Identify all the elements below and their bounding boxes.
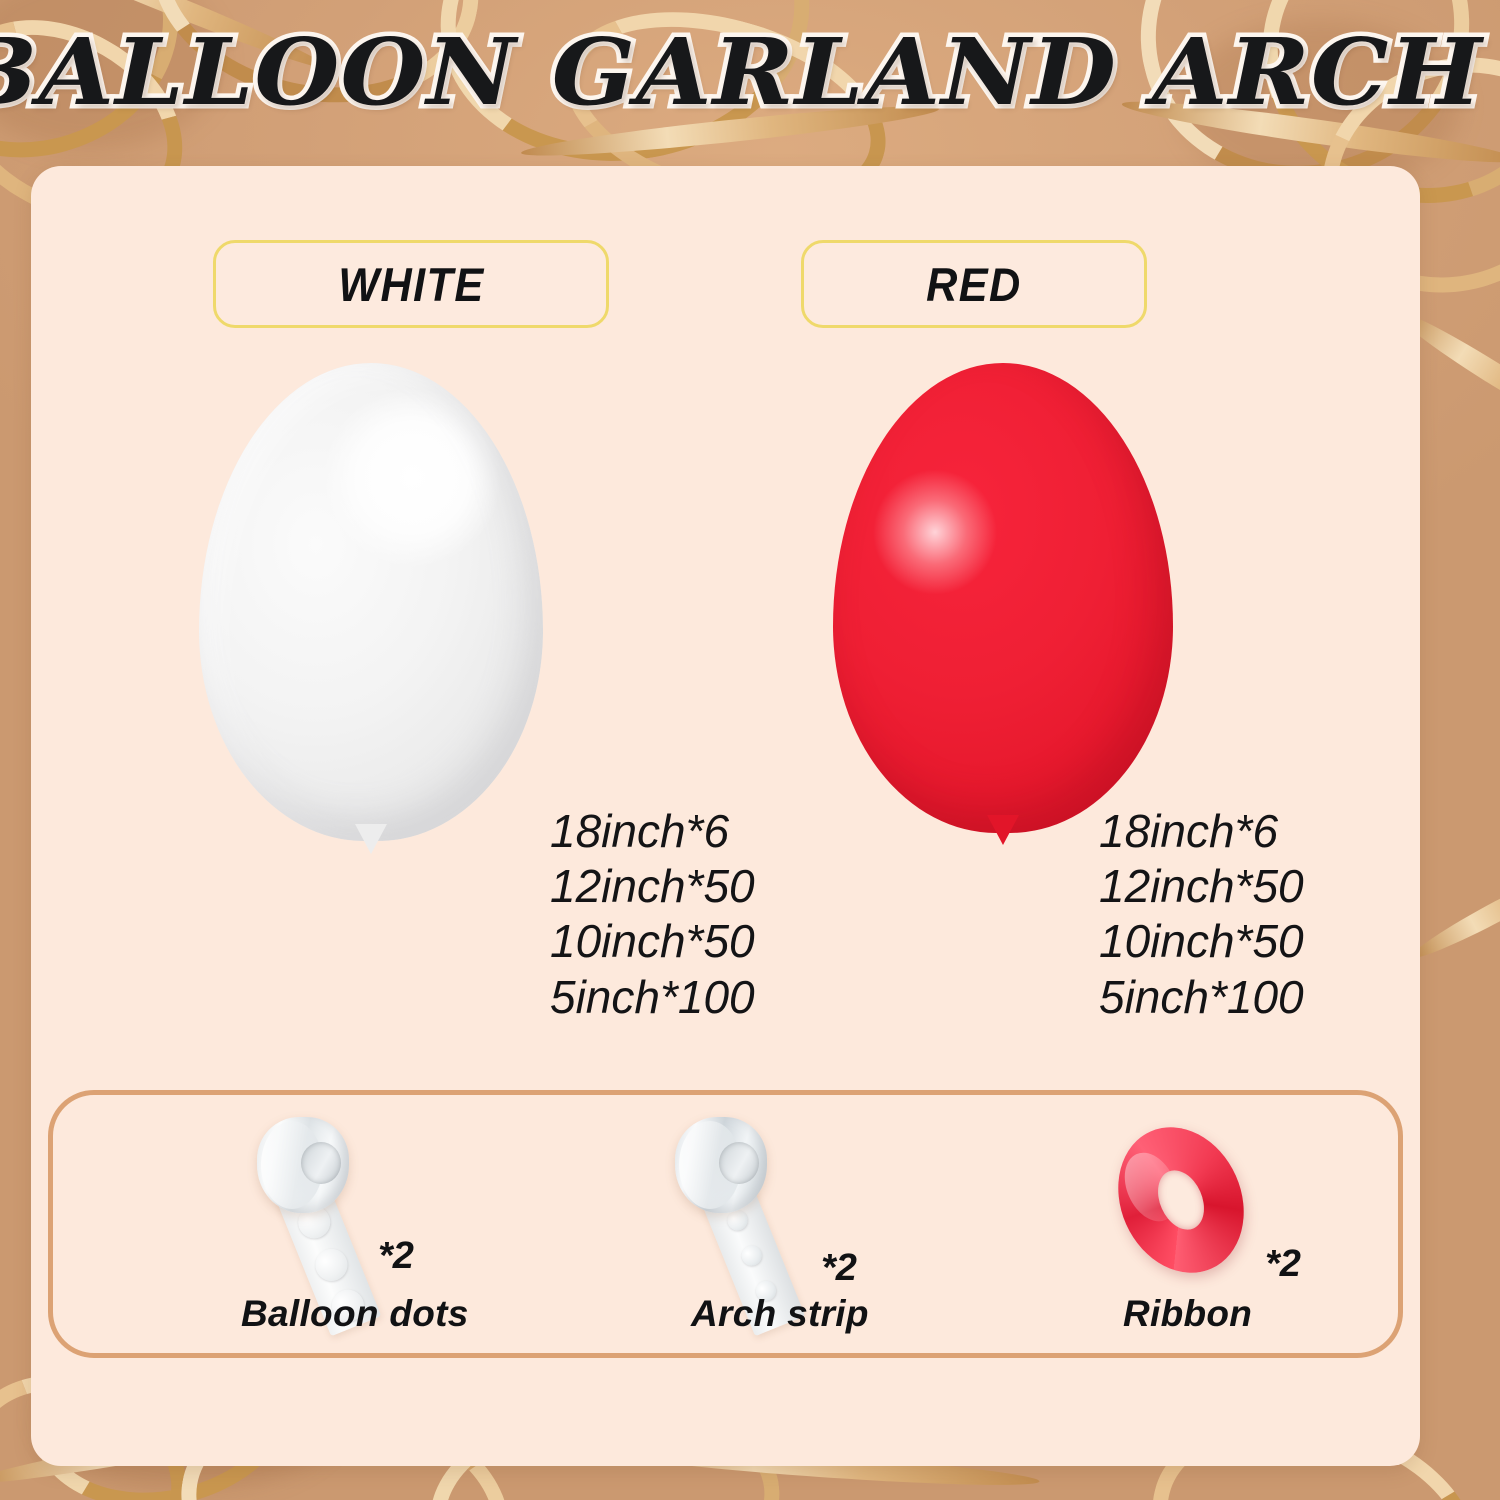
strip-hole-center bbox=[719, 1142, 759, 1184]
size-line: 5inch*100 bbox=[1099, 970, 1304, 1025]
glue-dot bbox=[311, 1244, 353, 1286]
white-balloon-image bbox=[199, 363, 543, 841]
strip-hole bbox=[739, 1243, 765, 1269]
red-balloon-image bbox=[833, 363, 1173, 833]
white-size-list: 18inch*6 12inch*50 10inch*50 5inch*100 bbox=[550, 804, 755, 1025]
accessory-arch-strip: *2 Arch strip bbox=[503, 1095, 953, 1363]
product-card: WHITE 18inch*6 12inch*50 10inch*50 5inch… bbox=[31, 166, 1420, 1466]
size-line: 10inch*50 bbox=[1099, 914, 1304, 969]
ribbon-spool-icon bbox=[1096, 1107, 1267, 1293]
size-line: 18inch*6 bbox=[1099, 804, 1304, 859]
strip-core bbox=[675, 1117, 767, 1213]
balloon-body bbox=[199, 363, 543, 841]
accessory-label: Ribbon bbox=[1123, 1293, 1252, 1335]
accessory-quantity: *2 bbox=[378, 1235, 414, 1278]
accessory-balloon-dots: *2 Balloon dots bbox=[53, 1095, 503, 1363]
page-title: BALLOON GARLAND ARCH KIT bbox=[0, 26, 1500, 118]
color-badge-label: RED bbox=[926, 257, 1021, 312]
color-badge-white[interactable]: WHITE bbox=[213, 240, 609, 328]
accessory-quantity: *2 bbox=[1265, 1243, 1301, 1286]
size-line: 5inch*100 bbox=[550, 970, 755, 1025]
tape-core bbox=[257, 1117, 349, 1213]
balloon-knot bbox=[987, 815, 1019, 845]
tape-roll-icon bbox=[239, 1117, 379, 1307]
accessories-box: *2 Balloon dots *2 Arch str bbox=[48, 1090, 1403, 1358]
accessory-label: Balloon dots bbox=[241, 1293, 469, 1335]
size-line: 12inch*50 bbox=[1099, 859, 1304, 914]
balloon-body bbox=[833, 363, 1173, 833]
size-line: 10inch*50 bbox=[550, 914, 755, 969]
accessory-quantity: *2 bbox=[821, 1247, 857, 1290]
accessory-label: Arch strip bbox=[691, 1293, 869, 1335]
product-infographic: BALLOON GARLAND ARCH KIT WHITE 18inch*6 … bbox=[0, 0, 1500, 1500]
color-badge-label: WHITE bbox=[338, 257, 484, 312]
color-badge-red[interactable]: RED bbox=[801, 240, 1147, 328]
arch-strip-roll-icon bbox=[663, 1117, 803, 1307]
tape-hole bbox=[301, 1142, 341, 1184]
accessory-ribbon: *2 Ribbon bbox=[953, 1095, 1408, 1363]
balloon-knot bbox=[355, 824, 387, 854]
red-size-list: 18inch*6 12inch*50 10inch*50 5inch*100 bbox=[1099, 804, 1304, 1025]
size-line: 12inch*50 bbox=[550, 859, 755, 914]
size-line: 18inch*6 bbox=[550, 804, 755, 859]
